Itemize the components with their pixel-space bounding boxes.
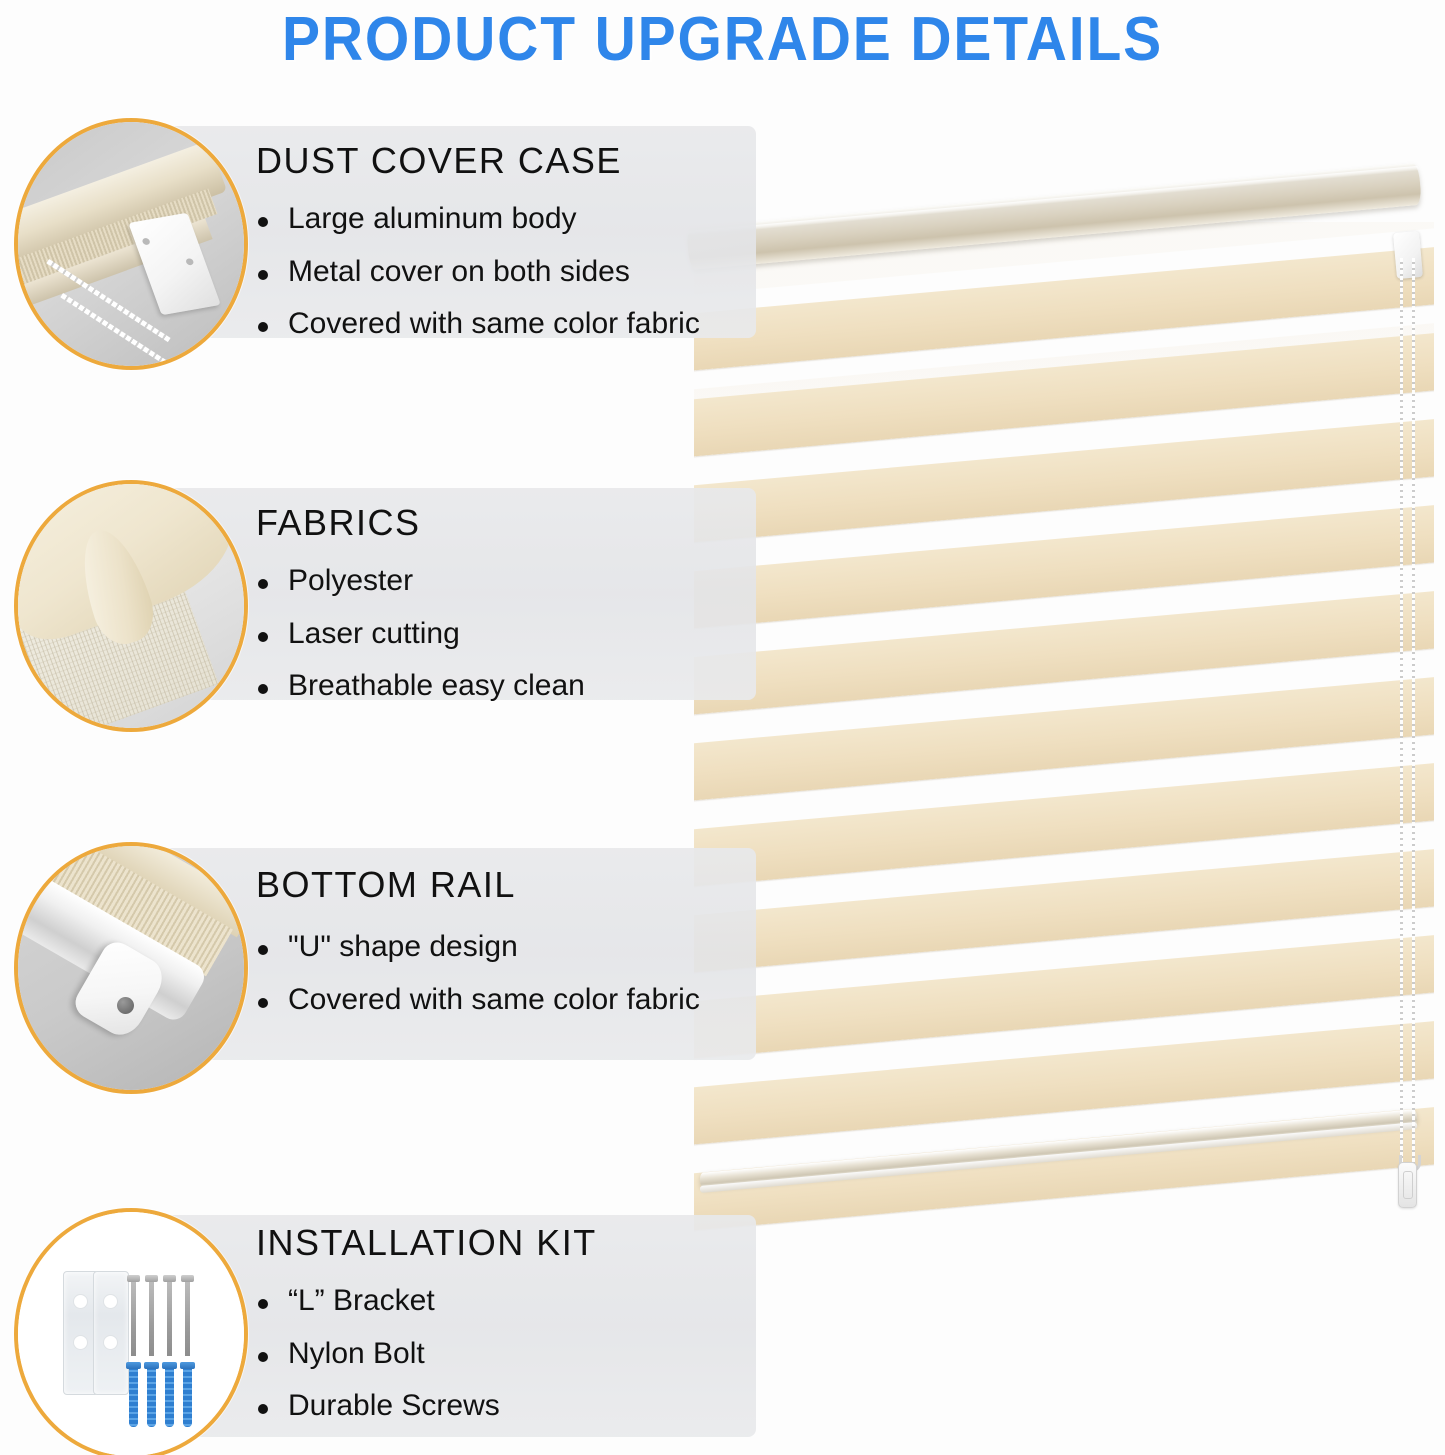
- nylon-bolt-anchor-shape: [165, 1366, 174, 1427]
- l-bracket-shape: [93, 1271, 129, 1395]
- feature-bullet-list: Large aluminum body Metal cover on both …: [256, 204, 756, 340]
- feature-text-group: BOTTOM RAIL "U" shape design Covered wit…: [256, 864, 756, 1015]
- fabrics-artwork: [18, 484, 244, 728]
- feature-text-group: FABRICS Polyester Laser cutting Breathab…: [256, 502, 756, 702]
- page-title: PRODUCT UPGRADE DETAILS: [58, 4, 1387, 75]
- installation-kit-artwork: [18, 1212, 244, 1455]
- feature-title: BOTTOM RAIL: [256, 864, 756, 906]
- feature-text-group: INSTALLATION KIT “L” Bracket Nylon Bolt …: [256, 1222, 756, 1422]
- screw-shape: [149, 1280, 154, 1356]
- feature-bullet-list: "U" shape design Covered with same color…: [256, 932, 756, 1015]
- feature-bullet: Large aluminum body: [256, 204, 756, 235]
- nylon-bolt-anchor-shape: [147, 1366, 156, 1427]
- zebra-roller-blind-image: [694, 222, 1434, 1257]
- bead-chain-right-strand[interactable]: [1412, 258, 1415, 1163]
- screw-shape: [131, 1280, 136, 1356]
- feature-title: FABRICS: [256, 502, 756, 544]
- nylon-bolt-anchor-shape: [129, 1366, 138, 1427]
- feature-bullet: Nylon Bolt: [256, 1339, 756, 1370]
- feature-bullet-list: “L” Bracket Nylon Bolt Durable Screws: [256, 1286, 756, 1422]
- feature-bullet: Metal cover on both sides: [256, 257, 756, 288]
- feature-title: DUST COVER CASE: [256, 140, 756, 182]
- bottom-rail-photo: [14, 842, 248, 1094]
- blind-headrail-end-cap: [1393, 231, 1423, 279]
- feature-bullet-list: Polyester Laser cutting Breathable easy …: [256, 566, 756, 702]
- feature-bullet: Covered with same color fabric: [256, 309, 756, 340]
- bottom-rail-artwork: [18, 846, 244, 1090]
- screw-shape: [167, 1280, 172, 1356]
- dust-cover-case-artwork: [18, 122, 244, 366]
- fabrics-photo: [14, 480, 248, 732]
- feature-bullet: Polyester: [256, 566, 756, 597]
- feature-text-group: DUST COVER CASE Large aluminum body Meta…: [256, 140, 756, 340]
- feature-bullet: Laser cutting: [256, 619, 756, 650]
- installation-kit-photo: [14, 1208, 248, 1455]
- nylon-bolt-anchor-shape: [183, 1366, 192, 1427]
- feature-bullet: Breathable easy clean: [256, 671, 756, 702]
- feature-title: INSTALLATION KIT: [256, 1222, 756, 1264]
- bead-chain-left-strand[interactable]: [1400, 258, 1403, 1163]
- chain-safety-connector[interactable]: [1398, 1162, 1417, 1208]
- feature-bullet: “L” Bracket: [256, 1286, 756, 1317]
- infographic-canvas: PRODUCT UPGRADE DETAILS DUST COVER CASE …: [0, 0, 1445, 1455]
- feature-bullet: Covered with same color fabric: [256, 985, 756, 1016]
- screw-shape: [185, 1280, 190, 1356]
- feature-bullet: Durable Screws: [256, 1391, 756, 1422]
- feature-bullet: "U" shape design: [256, 932, 756, 963]
- dust-cover-case-photo: [14, 118, 248, 370]
